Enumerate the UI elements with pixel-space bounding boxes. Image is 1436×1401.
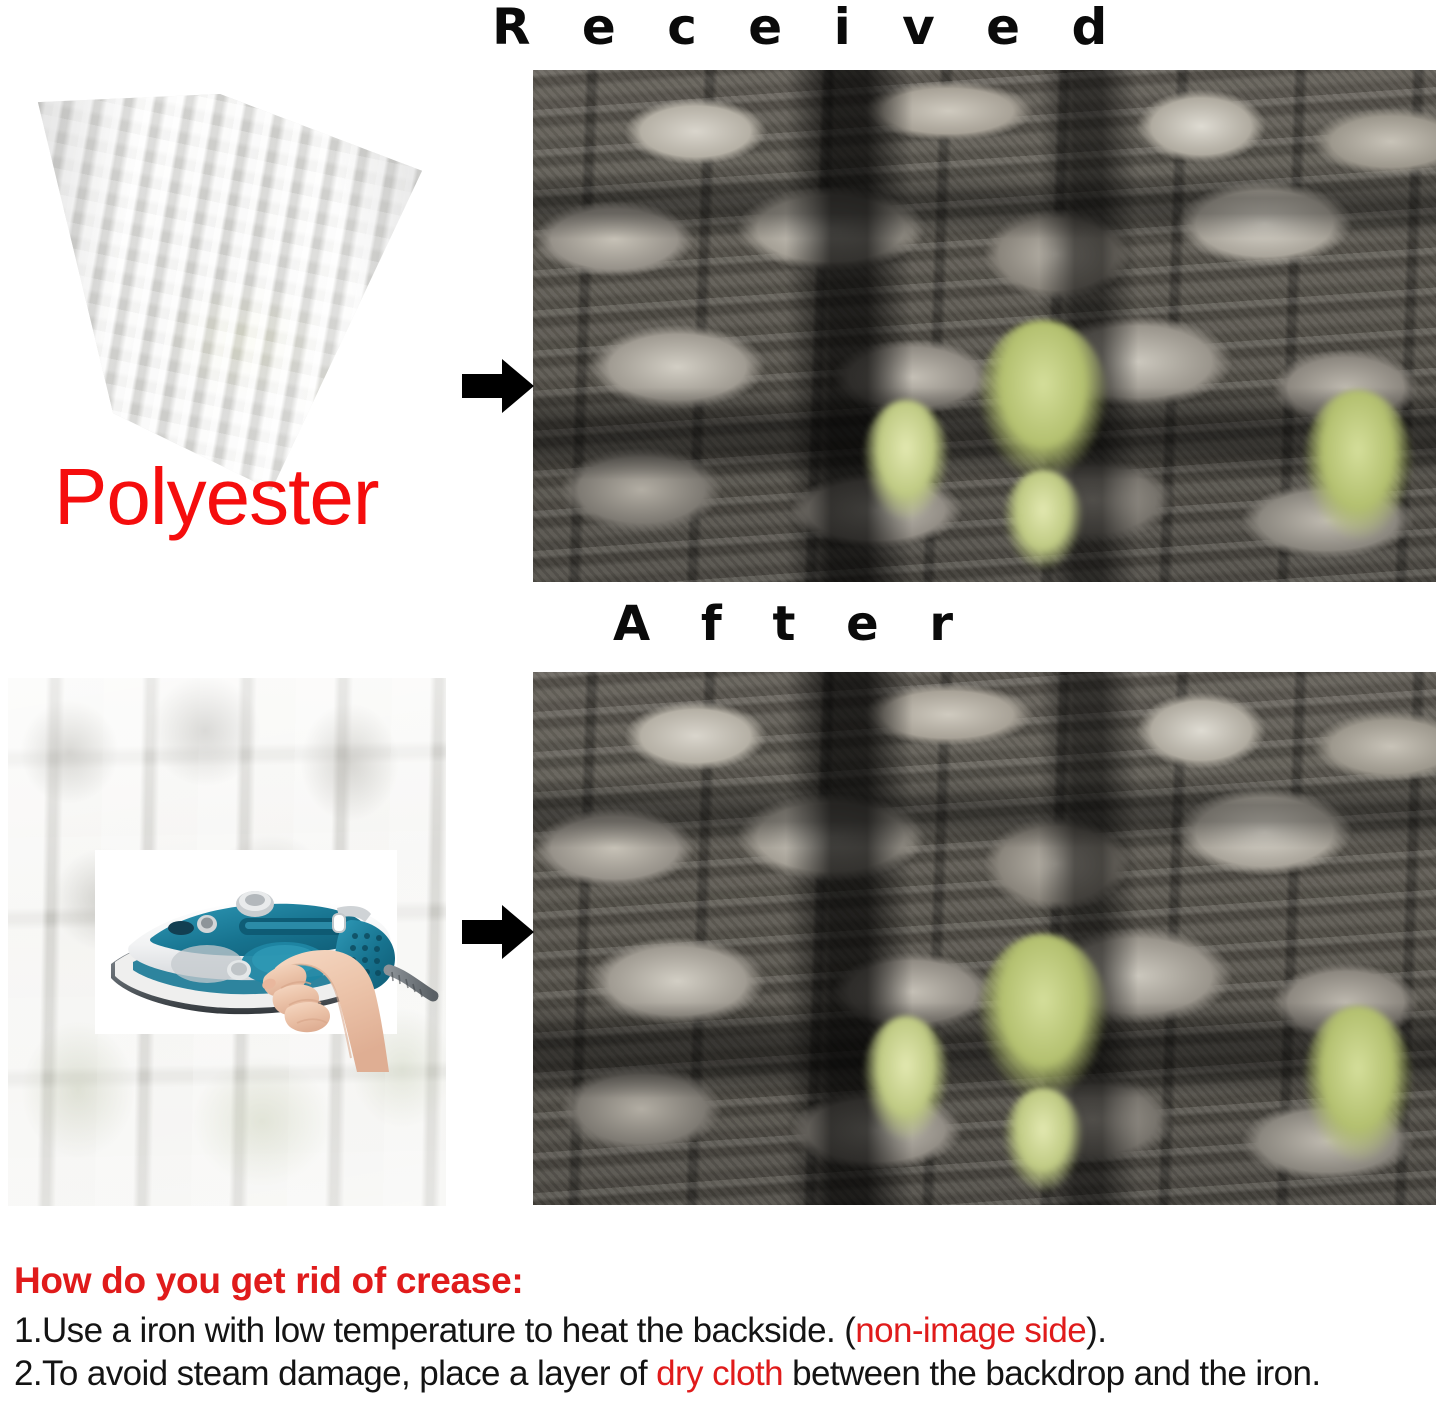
polyester-material-label: Polyester	[54, 457, 378, 537]
care-step-1: 1.Use a iron with low temperature to hea…	[14, 1311, 1424, 1352]
received-label: R e c e i v e d	[492, 2, 1124, 52]
clothes-iron-icon	[95, 850, 397, 1034]
foliage-tuft	[863, 1016, 949, 1140]
care-instructions: How do you get rid of crease: 1.Use a ir…	[14, 1262, 1424, 1395]
foliage-tuft	[1303, 1006, 1413, 1162]
foliage-tuft	[1003, 1088, 1083, 1192]
received-backdrop-photo	[533, 70, 1436, 582]
folded-fabric-photo	[18, 82, 438, 502]
care-step-1-text-b: ).	[1086, 1311, 1106, 1350]
after-backdrop-photo	[533, 672, 1436, 1205]
care-step-1-text-a: 1.Use a iron with low temperature to hea…	[14, 1311, 855, 1350]
foliage-tuft	[1303, 390, 1413, 540]
care-heading: How do you get rid of crease:	[14, 1262, 1424, 1301]
ironing-demo-panel	[95, 850, 397, 1034]
folded-fabric-shading	[26, 90, 422, 494]
right-arrow-icon	[462, 357, 534, 415]
foliage-tuft	[863, 400, 949, 520]
rock-shadow-overlay	[533, 672, 1436, 1205]
foliage-tuft	[1003, 470, 1083, 570]
care-step-2-text-b: between the backdrop and the iron.	[783, 1354, 1320, 1393]
rock-shadow-overlay	[533, 70, 1436, 582]
care-step-2: 2.To avoid steam damage, place a layer o…	[14, 1354, 1424, 1395]
care-step-2-highlight: dry cloth	[656, 1354, 783, 1393]
after-label: A f t e r	[613, 600, 970, 648]
care-step-1-highlight: non-image side	[855, 1311, 1086, 1350]
right-arrow-icon	[462, 903, 534, 961]
care-step-2-text-a: 2.To avoid steam damage, place a layer o…	[14, 1354, 656, 1393]
foliage-tuft	[978, 320, 1108, 480]
foliage-tuft	[978, 934, 1108, 1100]
